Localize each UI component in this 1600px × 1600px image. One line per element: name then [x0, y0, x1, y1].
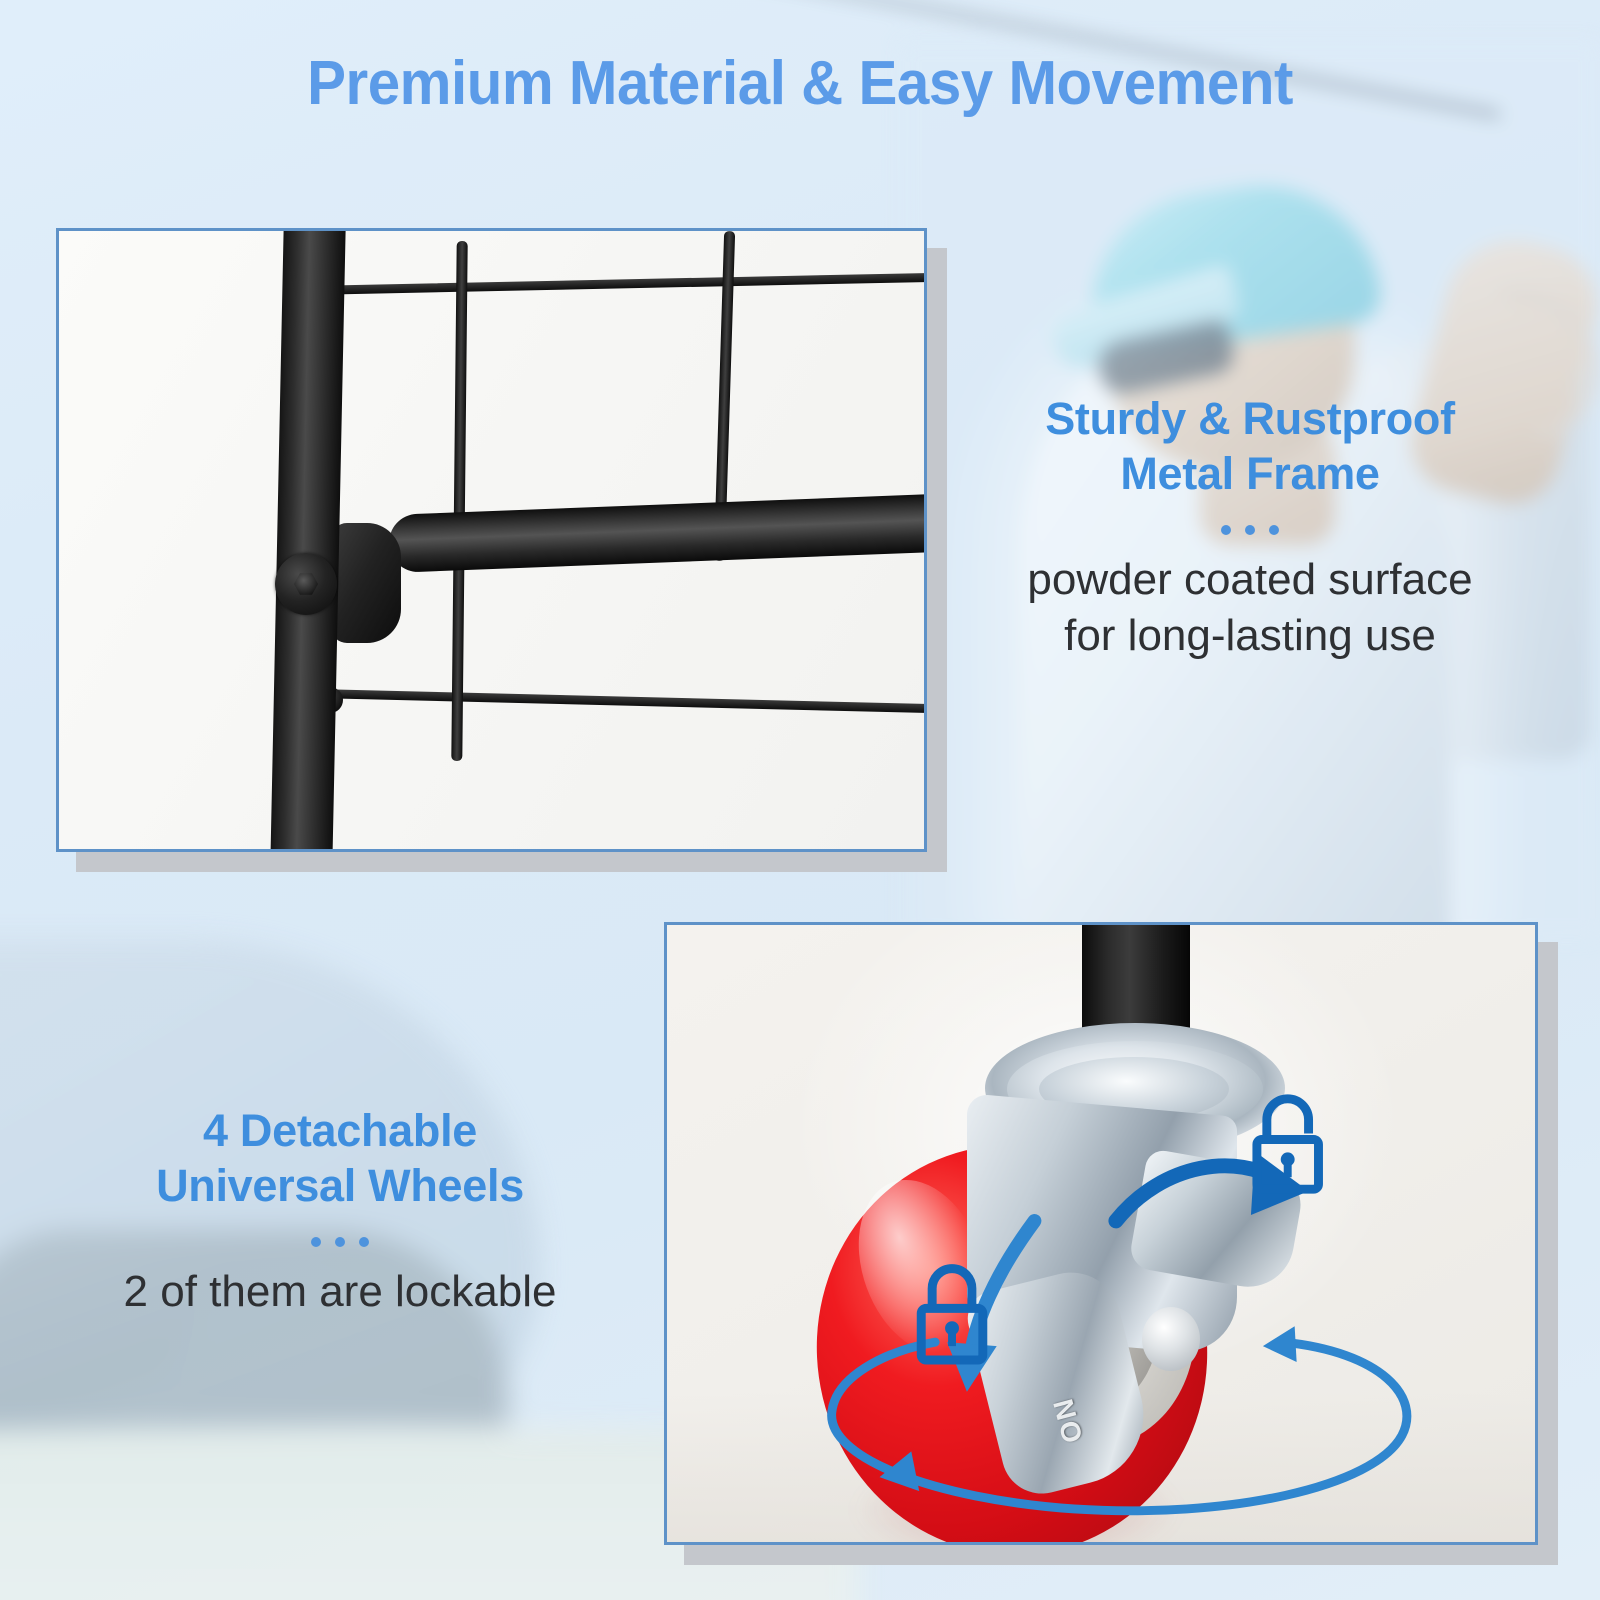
- separator-dot: [1269, 525, 1279, 535]
- metal-frame-heading-line2: Metal Frame: [920, 447, 1580, 502]
- universal-wheels-body: 2 of them are lockable: [20, 1264, 660, 1320]
- separator-dot: [359, 1237, 369, 1247]
- page-title: Premium Material & Easy Movement: [48, 48, 1552, 119]
- metal-frame-body-line2: for long-lasting use: [920, 608, 1580, 664]
- separator-dot: [1245, 525, 1255, 535]
- universal-wheels-heading-line1: 4 Detachable: [20, 1104, 660, 1159]
- universal-wheels-heading-line2: Universal Wheels: [20, 1159, 660, 1214]
- metal-frame-separator-dots: [920, 522, 1580, 538]
- hex-bolt-icon: [275, 553, 337, 615]
- universal-wheels-separator-dots: [20, 1234, 660, 1250]
- separator-dot: [311, 1237, 321, 1247]
- axle-bolt: [1142, 1307, 1200, 1371]
- universal-wheels-body-line1: 2 of them are lockable: [20, 1264, 660, 1320]
- separator-dot: [335, 1237, 345, 1247]
- caster-wheel-photo: ON: [664, 922, 1538, 1545]
- separator-dot: [1221, 525, 1231, 535]
- metal-frame-text-block: Sturdy & Rustproof Metal Frame powder co…: [920, 392, 1580, 664]
- metal-frame-heading-line1: Sturdy & Rustproof: [920, 392, 1580, 447]
- tube-joint-collar: [331, 523, 401, 643]
- metal-frame-body-line1: powder coated surface: [920, 552, 1580, 608]
- vertical-frame-post: [270, 228, 346, 852]
- universal-wheels-text-block: 4 Detachable Universal Wheels 2 of them …: [20, 1104, 660, 1320]
- metal-frame-body: powder coated surface for long-lasting u…: [920, 552, 1580, 665]
- universal-wheels-heading: 4 Detachable Universal Wheels: [20, 1104, 660, 1214]
- metal-frame-heading: Sturdy & Rustproof Metal Frame: [920, 392, 1580, 502]
- metal-frame-photo: [56, 228, 927, 852]
